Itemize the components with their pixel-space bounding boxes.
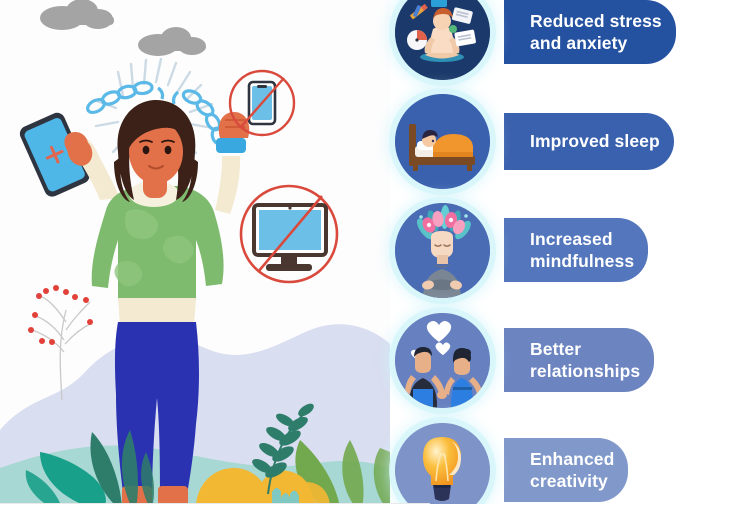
benefit-label-increased-mindfulness: Increased mindfulness — [530, 228, 634, 273]
cloud-icon-left — [40, 0, 114, 30]
bottom-divider — [0, 503, 430, 504]
benefit-pill-reduced-stress[interactable]: Reduced stress and anxiety — [504, 0, 676, 64]
benefit-label-better-relationships: Better relationships — [530, 338, 640, 383]
benefit-item-improved-sleep[interactable]: Improved sleep — [386, 91, 731, 191]
illustration-panel — [0, 0, 390, 517]
benefit-label-reduced-stress: Reduced stress and anxiety — [530, 10, 662, 55]
no-smartphone-icon — [230, 71, 294, 135]
infographic-canvas: Reduced stress and anxiety — [0, 0, 731, 517]
cloud-icon-right — [138, 27, 206, 56]
benefits-list: Reduced stress and anxiety — [386, 0, 731, 517]
benefit-label-enhanced-creativity: Enhanced creativity — [530, 448, 614, 493]
no-computer-icon — [241, 186, 337, 282]
benefit-pill-improved-sleep[interactable]: Improved sleep — [504, 113, 674, 170]
benefit-item-increased-mindfulness[interactable]: Increased mindfulness — [386, 200, 731, 300]
bottom-white-strip — [0, 504, 731, 517]
blue-wristband — [216, 138, 246, 153]
benefit-icon-sleeping-in-bed[interactable] — [395, 94, 490, 189]
right-arm-fist — [215, 112, 249, 214]
benefit-item-better-relationships[interactable]: Better relationships — [386, 310, 731, 410]
woman-head — [114, 100, 198, 202]
eye-left — [143, 146, 150, 154]
benefit-label-improved-sleep: Improved sleep — [530, 130, 660, 152]
woman-midriff — [118, 298, 196, 326]
eye-right — [165, 146, 172, 154]
benefit-item-reduced-stress[interactable]: Reduced stress and anxiety — [386, 0, 731, 82]
benefit-icon-couple-hearts[interactable] — [395, 313, 490, 408]
benefit-pill-enhanced-creativity[interactable]: Enhanced creativity — [504, 438, 628, 502]
benefit-pill-better-relationships[interactable]: Better relationships — [504, 328, 654, 392]
benefit-icon-mindfulness-head-flowers[interactable] — [395, 203, 490, 298]
benefit-icon-meditation[interactable] — [395, 0, 490, 80]
illustration-artwork — [0, 0, 390, 517]
benefit-pill-increased-mindfulness[interactable]: Increased mindfulness — [504, 218, 648, 282]
benefit-item-enhanced-creativity[interactable]: Enhanced creativity — [386, 420, 731, 517]
